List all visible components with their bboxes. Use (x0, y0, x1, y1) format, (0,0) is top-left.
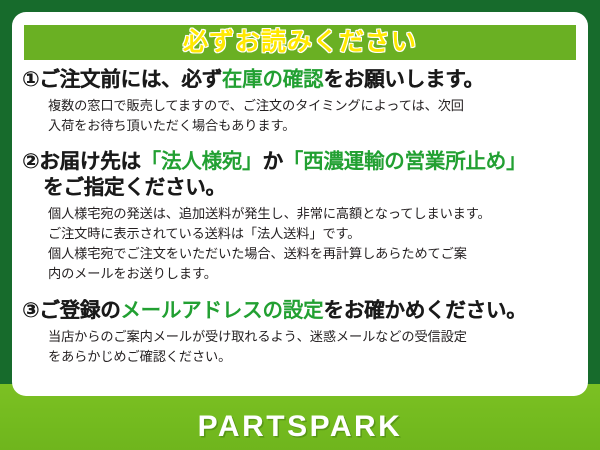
notice-item-2-detail-line-3: 個人様宅宛でご注文をいただいた場合、送料を再計算しあらためてご案 (48, 244, 578, 264)
notice-item-3-detail-line-2: をあらかじめご確認ください。 (48, 347, 578, 367)
notice-item-3: ③ご登録のメールアドレスの設定をお確かめください。 当店からのご案内メールが受け… (22, 297, 578, 367)
notice-item-2-detail-line-2: ご注文時に表示されている送料は「法人送料」です。 (48, 224, 578, 244)
notice-item-1-detail-line-1: 複数の窓口で販売してますので、ご注文のタイミングによっては、次回 (48, 96, 578, 116)
notice-item-1-headline: ①ご注文前には、必ず在庫の確認をお願いします。 (22, 66, 578, 93)
notice-item-3-text-b: をお確かめください。 (323, 299, 526, 322)
notice-item-1-text-a: ご注文前には、必ず (39, 68, 222, 91)
notice-item-3-detail: 当店からのご案内メールが受け取れるよう、迷惑メールなどの受信設定 をあらかじめご… (22, 327, 578, 367)
notice-item-1-number: ① (22, 68, 39, 91)
notice-item-3-detail-line-1: 当店からのご案内メールが受け取れるよう、迷惑メールなどの受信設定 (48, 327, 578, 347)
notice-item-2-text-b: か (262, 150, 282, 173)
notice-item-1-text-b: をお願いします。 (323, 68, 483, 91)
notice-item-3-highlight: メールアドレスの設定 (120, 299, 323, 322)
notice-item-1-detail-line-2: 入荷をお待ち頂いただく場合もあります。 (48, 116, 578, 136)
notice-item-2: ②お届け先は「法人様宛」か「西濃運輸の営業所止め」 をご指定ください。 個人様宅… (22, 148, 578, 284)
notice-item-2-text-a: お届け先は (39, 150, 141, 173)
notice-items: ①ご注文前には、必ず在庫の確認をお願いします。 複数の窓口で販売してますので、ご… (12, 60, 588, 367)
notice-item-2-detail-line-4: 内のメールをお送りします。 (48, 264, 578, 284)
notice-item-2-headline: ②お届け先は「法人様宛」か「西濃運輸の営業所止め」 (22, 148, 578, 175)
notice-item-1-highlight: 在庫の確認 (222, 68, 324, 91)
brand-logo: PARTSPARK (0, 412, 600, 442)
banner-title: 必ずお読みください (183, 30, 417, 55)
content-panel: 必ずお読みください ①ご注文前には、必ず在庫の確認をお願いします。 複数の窓口で… (12, 12, 588, 396)
notice-item-1: ①ご注文前には、必ず在庫の確認をお願いします。 複数の窓口で販売してますので、ご… (22, 66, 578, 136)
notice-item-3-text-a: ご登録の (39, 299, 120, 322)
notice-item-2-headline-continuation: をご指定ください。 (22, 175, 578, 201)
notice-item-3-headline: ③ご登録のメールアドレスの設定をお確かめください。 (22, 297, 578, 324)
notice-poster: 必ずお読みください ①ご注文前には、必ず在庫の確認をお願いします。 複数の窓口で… (0, 0, 600, 450)
notice-item-1-detail: 複数の窓口で販売してますので、ご注文のタイミングによっては、次回 入荷をお待ち頂… (22, 96, 578, 136)
notice-item-2-highlight-b: 「西濃運輸の営業所止め」 (283, 150, 527, 173)
notice-item-2-detail: 個人様宅宛の発送は、追加送料が発生し、非常に高額となってしまいます。 ご注文時に… (22, 204, 578, 284)
notice-item-3-number: ③ (22, 299, 39, 322)
notice-item-2-number: ② (22, 150, 39, 173)
notice-item-2-detail-line-1: 個人様宅宛の発送は、追加送料が発生し、非常に高額となってしまいます。 (48, 204, 578, 224)
notice-item-2-highlight-a: 「法人様宛」 (141, 150, 263, 173)
banner: 必ずお読みください (24, 25, 576, 60)
